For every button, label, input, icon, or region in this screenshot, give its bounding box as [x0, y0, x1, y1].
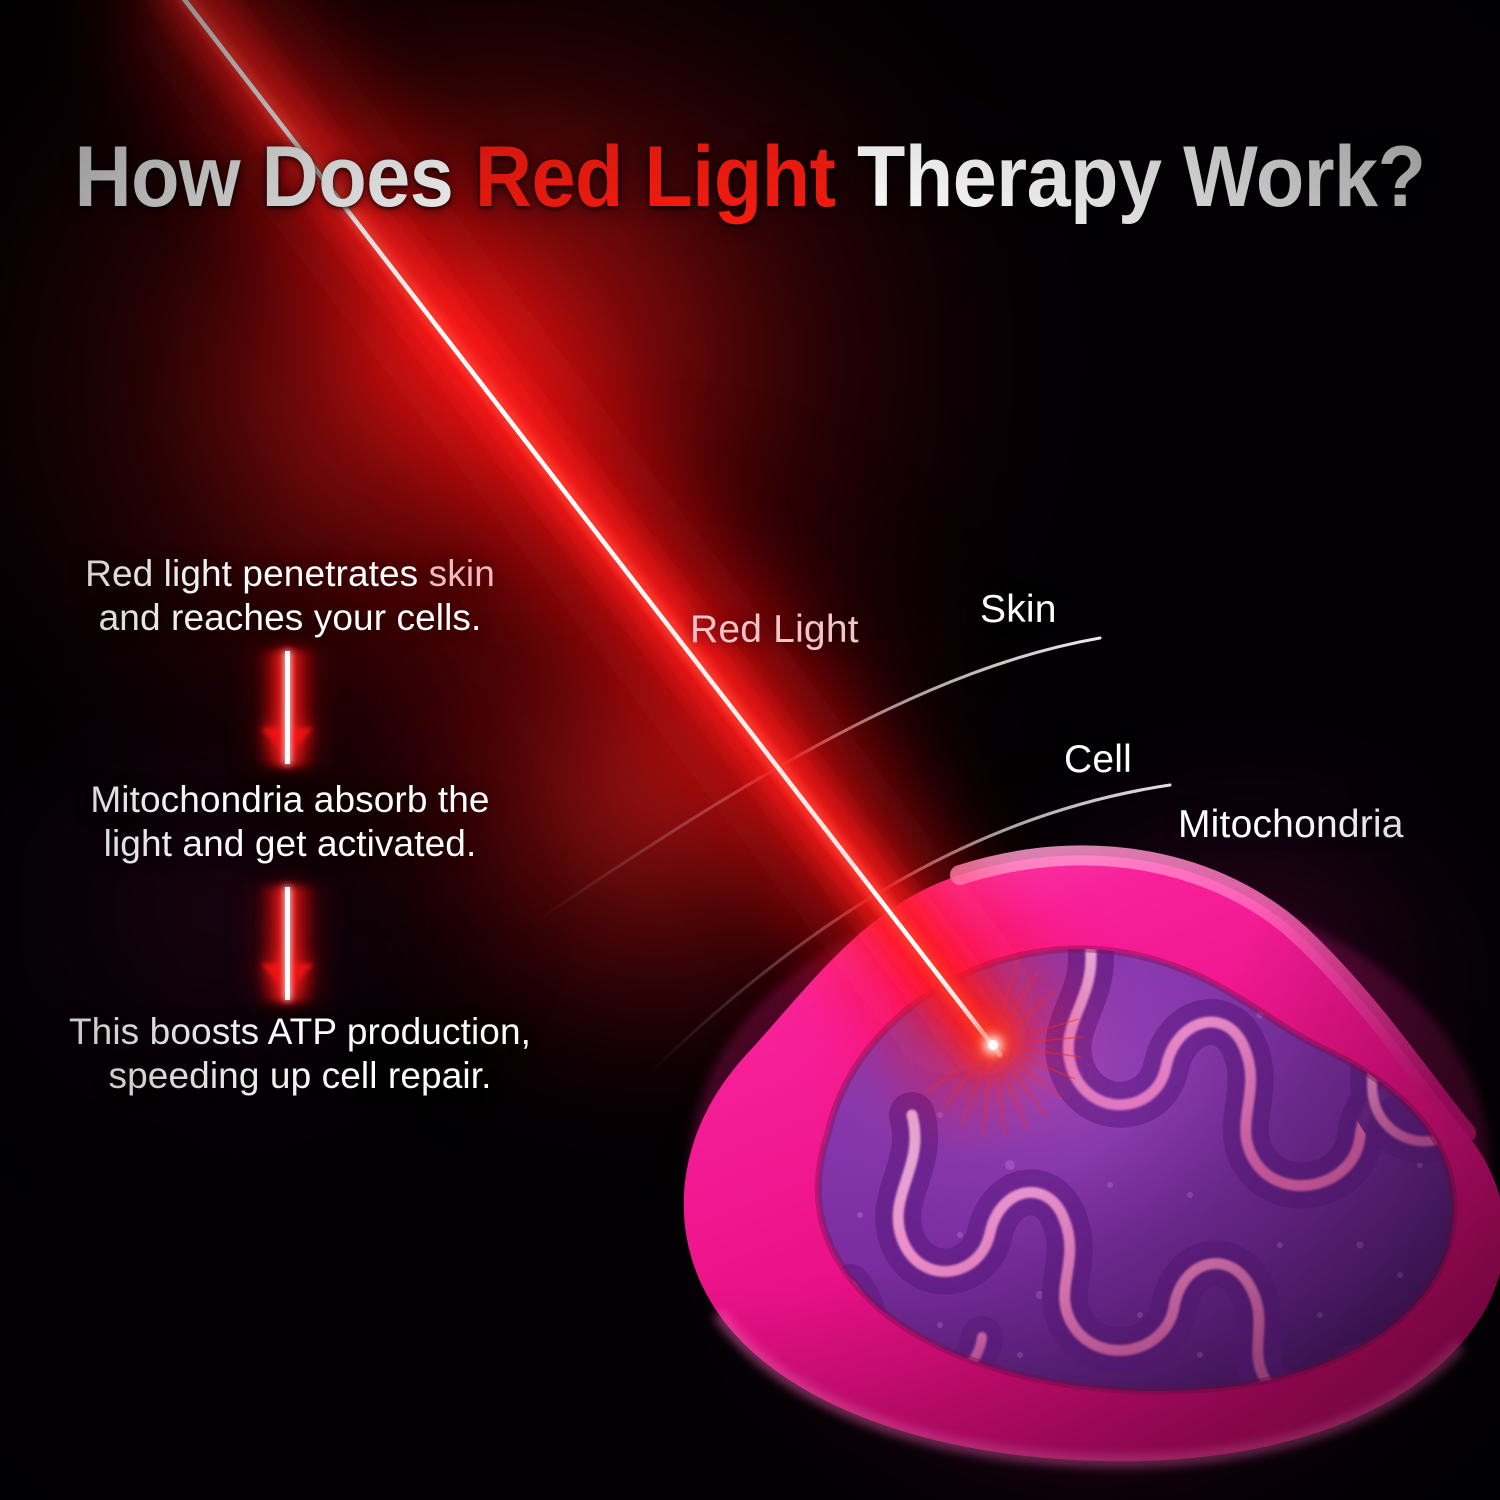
label-cell: Cell: [1064, 738, 1132, 782]
step-absorb: Mitochondria absorb the light and get ac…: [30, 778, 550, 865]
title-part-1: How Does: [75, 129, 475, 225]
step-atp: This boosts ATP production, speeding up …: [10, 1010, 590, 1097]
step-atp-line-2: speeding up cell repair.: [10, 1054, 590, 1098]
step-absorb-line-1: Mitochondria absorb the: [30, 778, 550, 822]
page-title: How Does Red Light Therapy Work?: [60, 128, 1440, 227]
down-arrow-icon-2: [227, 884, 347, 1004]
arrow-shaft-core-2: [285, 887, 290, 1000]
label-skin: Skin: [980, 588, 1057, 632]
title-part-2: Therapy Work?: [835, 129, 1425, 225]
title-accent: Red Light: [475, 129, 836, 225]
label-mitochondria: Mitochondria: [1178, 803, 1404, 847]
step-penetrates-highlight: skin: [429, 553, 495, 594]
step-penetrates-text: Red light penetrates: [85, 553, 429, 594]
step-penetrates-line-1: Red light penetrates skin: [30, 552, 550, 596]
step-atp-line-1: This boosts ATP production,: [10, 1010, 590, 1054]
impact-spark-icon: [988, 1040, 998, 1050]
step-penetrates: Red light penetrates skin and reaches yo…: [30, 552, 550, 639]
down-arrow-icon-1: [227, 648, 347, 768]
step-absorb-line-2: light and get activated.: [30, 822, 550, 866]
label-red-light: Red Light: [690, 608, 859, 652]
arrow-shaft-core-1: [285, 651, 290, 764]
mitochondria-illustration: [660, 815, 1500, 1495]
infographic-canvas: How Does Red Light Therapy Work? Red lig…: [0, 0, 1500, 1500]
step-penetrates-line-2: and reaches your cells.: [30, 596, 550, 640]
